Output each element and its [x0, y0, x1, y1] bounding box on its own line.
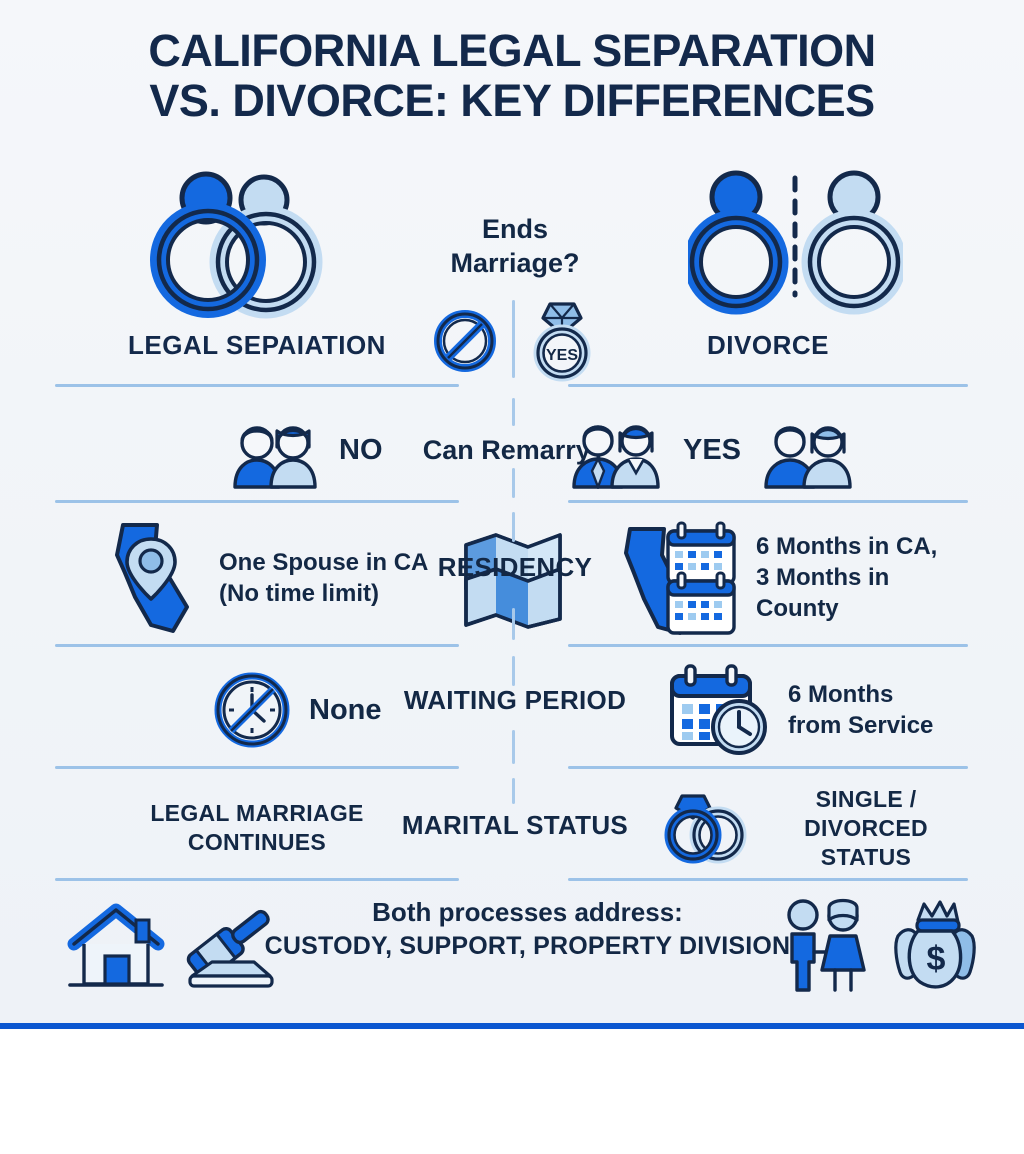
- center-divider-segment: [512, 778, 515, 804]
- california-pin-icon: [95, 519, 205, 637]
- diamond-ring-icon: YES: [523, 300, 601, 382]
- couple-casual-icon: [760, 411, 856, 489]
- left-column-title: LEGAL SEPAIATION: [55, 330, 459, 361]
- row-divider: [55, 766, 459, 769]
- center-divider-segment: [512, 512, 515, 542]
- california-calendars-icon: [614, 519, 744, 637]
- bottom-white-area: [0, 1029, 1024, 1154]
- row-divider: [568, 384, 968, 387]
- couple-icon: [227, 411, 323, 489]
- prohibition-icon: [432, 308, 498, 374]
- row-residency-right: 6 Months in CA, 3 Months in County: [568, 515, 968, 640]
- family-children-icon: [778, 898, 870, 994]
- footer-note: Both processes address: CUSTODY, SUPPORT…: [255, 895, 800, 963]
- dollar-sign: $: [927, 940, 946, 978]
- money-bags-icon: $: [890, 898, 980, 994]
- couple-formal-icon: [568, 411, 664, 489]
- calendar-clock-icon: [666, 662, 772, 758]
- center-divider-segment: [512, 300, 515, 378]
- center-divider-segment: [512, 398, 515, 426]
- wedding-rings-icon: [660, 790, 752, 866]
- title-line-2: VS. DIVORCE: KEY DIFFERENCES: [0, 76, 1024, 126]
- center-divider-segment: [512, 656, 515, 686]
- row-divider: [568, 766, 968, 769]
- title-line-1: CALIFORNIA LEGAL SEPARATION: [148, 25, 875, 76]
- row-divider: [55, 500, 459, 503]
- row-divider: [55, 384, 459, 387]
- row-divider: [568, 500, 968, 503]
- row-waiting-right: 6 Months from Service: [568, 658, 968, 762]
- remarry-right-value: YES: [674, 433, 750, 467]
- no-clock-icon: [209, 667, 295, 753]
- center-divider-segment: [512, 730, 515, 764]
- infographic-canvas: CALIFORNIA LEGAL SEPARATION VS. DIVORCE:…: [0, 0, 1024, 1154]
- footer-line-2: CUSTODY, SUPPORT, PROPERTY DIVISION: [255, 929, 800, 963]
- center-divider-segment: [512, 608, 515, 640]
- waiting-right-value: 6 Months from Service: [788, 679, 968, 741]
- page-title: CALIFORNIA LEGAL SEPARATION VS. DIVORCE:…: [0, 26, 1024, 126]
- joined-couple-rings-icon: [146, 170, 326, 320]
- row-divider: [55, 878, 459, 881]
- ends-marriage-question: Ends Marriage?: [415, 212, 615, 280]
- separated-couple-rings-icon: [688, 170, 903, 320]
- row-divider: [568, 878, 968, 881]
- row-remarry-right: YES: [568, 404, 968, 496]
- right-column-title: DIVORCE: [568, 330, 968, 361]
- footer-line-1: Both processes address:: [255, 895, 800, 929]
- ring-yes-label: YES: [546, 347, 578, 364]
- residency-right-value: 6 Months in CA, 3 Months in County: [756, 531, 956, 624]
- row-marital-right: SINGLE / DIVORCED STATUS: [568, 782, 968, 874]
- center-divider-segment: [512, 468, 515, 498]
- marital-right-value: SINGLE / DIVORCED STATUS: [764, 785, 968, 872]
- row-divider: [55, 644, 459, 647]
- row-divider: [568, 644, 968, 647]
- house-icon: [62, 900, 170, 992]
